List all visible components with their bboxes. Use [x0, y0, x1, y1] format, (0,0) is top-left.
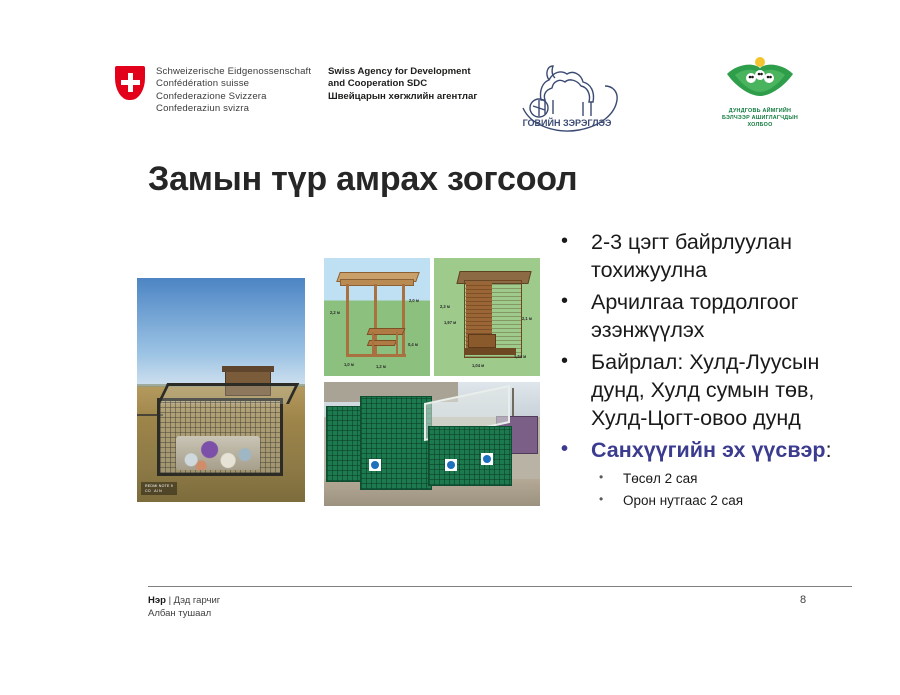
- pb-bin-right-mesh: [429, 427, 511, 485]
- footer-subtitle: Дэд гарчиг: [174, 595, 221, 606]
- drawing-gazebo: 2,2 м 2,0 м 0,4 м 1,0 м 1,2 м: [324, 258, 430, 376]
- camel-logo-text: ГОВИЙН ЗЭРЭГЛЭЭ: [523, 117, 612, 128]
- sub-bullet-item-1: Төсөл 2 сая: [553, 468, 873, 490]
- pb-bin-left-mesh: [327, 407, 361, 481]
- photo-trash-pile: [176, 436, 260, 470]
- photo-watermark: REDMI NOTE 9 CO AI N: [141, 482, 177, 495]
- pasture-logo-text: ДУНДГОВЬ АЙМГИЙН БЭЛЧЭЭР АШИГЛАГЧДЫН ХОЛ…: [705, 108, 815, 130]
- dim-gazebo-side: 2,0 м: [409, 298, 419, 303]
- slide: Schweizerische Eidgenossenschaft Confédé…: [0, 0, 900, 695]
- outhouse-step: [468, 334, 496, 348]
- recycling-symbol-icon-3: [481, 453, 493, 465]
- footer-line-1: Нэр | Дэд гарчиг: [148, 594, 220, 607]
- footer-divider: [148, 586, 852, 587]
- bullet-funding-colon: :: [826, 438, 832, 462]
- sdc-logo: Schweizerische Eidgenossenschaft Confédé…: [115, 66, 311, 116]
- gazebo-base-front: [346, 354, 406, 357]
- photo-steppe-rubbish-cage: REDMI NOTE 9 CO AI N: [137, 278, 305, 502]
- recycling-symbol-icon-2: [445, 459, 457, 471]
- pb-bin-left: [326, 406, 362, 482]
- bullet-item-2: Арчилгаа тордолгоог эзэнжүүлэх: [553, 288, 873, 344]
- bullet-funding-label: Санхүүгийн эх үүсвэр: [591, 438, 826, 462]
- technical-drawings-row: 2,2 м 2,0 м 0,4 м 1,0 м 1,2 м 2,3 м 1,97…: [324, 258, 540, 376]
- footer-text: Нэр | Дэд гарчиг Албан тушаал: [148, 594, 220, 620]
- dim-outhouse-height: 2,3 м: [440, 304, 450, 309]
- dim-gazebo-height: 2,2 м: [330, 310, 340, 315]
- logo-bar: Schweizerische Eidgenossenschaft Confédé…: [0, 52, 900, 142]
- dim-outhouse-width: 1,04 м: [472, 363, 484, 368]
- dim-gazebo-depth: 1,0 м: [344, 362, 354, 367]
- drawing-outhouse: 2,3 м 1,97 м 2,1 м 1,04 м 1,24 м: [434, 258, 540, 376]
- dim-gazebo-bench: 0,4 м: [408, 342, 418, 347]
- gazebo-table-leg-2: [396, 332, 398, 354]
- bullet-item-funding: Санхүүгийн эх үүсвэр:: [553, 436, 873, 464]
- dim-outhouse-side: 2,1 м: [522, 316, 532, 321]
- photo-sky: [137, 278, 305, 386]
- outhouse-floor: [464, 348, 516, 355]
- dim-gazebo-width: 1,2 м: [376, 364, 386, 369]
- gazebo-table-leg-1: [372, 332, 374, 354]
- bullet-list: 2-3 цэгт байрлуулан тохижуулна Арчилгаа …: [553, 228, 873, 512]
- sub-bullet-item-2: Орон нутгаас 2 сая: [553, 490, 873, 512]
- bullet-item-3: Байрлал: Хулд-Луусын дунд, Хулд сумын тө…: [553, 348, 873, 432]
- page-title: Замын түр амрах зогсоол: [148, 160, 577, 199]
- bullet-item-1: 2-3 цэгт байрлуулан тохижуулна: [553, 228, 873, 284]
- sdc-confederation-names: Schweizerische Eidgenossenschaft Confédé…: [156, 66, 311, 116]
- swiss-cross-shield-icon: [115, 66, 145, 100]
- page-number: 8: [800, 594, 806, 606]
- camel-logo-icon: ГОВИЙН ЗЭРЭГЛЭЭ: [505, 56, 630, 136]
- pb-bin-right: [428, 426, 512, 486]
- footer-name: Нэр: [148, 595, 166, 606]
- green-leaf-logo-icon: ДУНДГОВЬ АЙМГИЙН БЭЛЧЭЭР АШИГЛАГЧДЫН ХОЛ…: [705, 54, 815, 138]
- photo-recycling-containers: [324, 382, 540, 506]
- pb-bin-main-mesh: [361, 397, 431, 489]
- pb-bin-main: [360, 396, 432, 490]
- footer-position: Албан тушаал: [148, 607, 220, 620]
- gazebo-post-3: [402, 284, 405, 356]
- footer-separator: |: [169, 595, 171, 606]
- dim-outhouse-inner: 1,97 м: [444, 320, 456, 325]
- sdc-agency-name: Swiss Agency for Development and Coopera…: [328, 66, 477, 103]
- photo-mesh-cage: [157, 398, 283, 476]
- gazebo-post-1: [346, 284, 349, 356]
- recycling-symbol-icon: [369, 459, 381, 471]
- dim-outhouse-depth: 1,24 м: [514, 354, 526, 359]
